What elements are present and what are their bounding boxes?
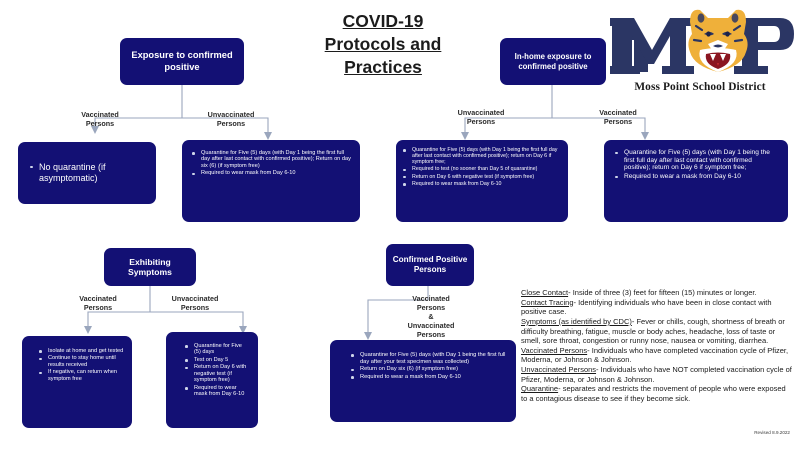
list-item: Test on Day 5	[194, 357, 250, 363]
list-item: Required to wear mask from Day 6-10	[412, 181, 560, 187]
list-item: Required to wear mask from Day 6-10	[194, 385, 250, 398]
list-item: Required to wear mask from Day 6-10	[201, 170, 352, 176]
definition-symptoms: Symptoms (as identified by CDC)- Fever o…	[521, 317, 793, 346]
list-item: Quarantine for Five (5) days	[194, 343, 250, 356]
definitions-glossary: Close Contact- Inside of three (3) feet …	[521, 288, 793, 404]
label-inhome-unvaccinated: Unvaccinated Persons	[446, 108, 516, 126]
definition-term: Contact Tracing	[521, 298, 574, 307]
definition-vaccinated-persons: Vaccinated Persons- Individuals who have…	[521, 346, 793, 365]
list-item: Quarantine for Five (5) days (with Day 1…	[360, 352, 508, 365]
definition-term: Close Contact	[521, 288, 568, 297]
label-line-1: Vaccinated	[599, 108, 637, 117]
list-item: Return on Day six (6) (if symptom free)	[360, 366, 508, 373]
node-inhome-exposure[interactable]: In-home exposure to confirmed positive	[500, 38, 606, 85]
node-exposure-label: Exposure to confirmed positive	[128, 50, 236, 73]
node-confirmed-label: Confirmed Positive Persons	[391, 255, 469, 275]
definition-unvaccinated-persons: Unvaccinated Persons- Individuals who ha…	[521, 365, 793, 384]
definition-text: - separates and restricts the movement o…	[521, 384, 786, 403]
label-line-2: Persons	[86, 119, 114, 128]
label-line-1: Vaccinated	[79, 294, 117, 303]
outcome-list: No quarantine (if asymptomatic)	[22, 162, 150, 184]
definition-close-contact: Close Contact- Inside of three (3) feet …	[521, 288, 793, 298]
definition-contact-tracing: Contact Tracing- Identifying individuals…	[521, 298, 793, 317]
label-line-2: Persons	[181, 303, 209, 312]
outcome-exhibiting-vaccinated[interactable]: Isolate at home and get tested Continue …	[22, 336, 132, 428]
outcome-exposure-vaccinated[interactable]: No quarantine (if asymptomatic)	[18, 142, 156, 204]
label-line-2: Persons	[604, 117, 632, 126]
definition-term: Unvaccinated Persons	[521, 365, 596, 374]
label-line-1: Vaccinated	[81, 110, 119, 119]
outcome-list: Isolate at home and get tested Continue …	[26, 348, 126, 382]
label-line-1: Vaccinated	[412, 294, 450, 303]
label-line-1: Unvaccinated	[458, 108, 505, 117]
label-line-2: Persons	[467, 117, 495, 126]
label-line-1: Unvaccinated	[208, 110, 255, 119]
outcome-list: Quarantine for Five (5) days (with Day 1…	[186, 150, 354, 177]
label-line-1: Unvaccinated	[172, 294, 219, 303]
list-item: Required to wear a mask from Day 6-10	[360, 374, 508, 381]
label-line-4: Unvaccinated	[408, 321, 455, 330]
definition-term: Quarantine	[521, 384, 558, 393]
definition-term: Vaccinated Persons	[521, 346, 587, 355]
list-item: Quarantine for Five (5) days (with Day 1…	[624, 149, 780, 172]
label-exposure-vaccinated: Vaccinated Persons	[68, 110, 132, 128]
revised-date: Revised 8.9.2022	[660, 430, 790, 435]
label-line-2: Persons	[84, 303, 112, 312]
list-item: Required to wear a mask from Day 6-10	[624, 173, 780, 181]
label-line-2: Persons	[417, 303, 445, 312]
outcome-exposure-unvaccinated[interactable]: Quarantine for Five (5) days (with Day 1…	[182, 140, 360, 222]
outcome-confirmed-all[interactable]: Quarantine for Five (5) days (with Day 1…	[330, 340, 516, 422]
outcome-list: Quarantine for Five (5) days (with Day 1…	[400, 147, 562, 187]
list-item: Continue to stay home until results rece…	[48, 355, 124, 368]
list-item: Return on Day 6 with negative test (if s…	[194, 364, 250, 383]
list-item: Quarantine for Five (5) days (with Day 1…	[201, 150, 352, 169]
list-item: No quarantine (if asymptomatic)	[39, 162, 148, 183]
outcome-inhome-vaccinated[interactable]: Quarantine for Five (5) days (with Day 1…	[604, 140, 788, 222]
definition-term: Symptoms (as identified by CDC)	[521, 317, 632, 326]
list-item: If negative, can return when symptom fre…	[48, 369, 124, 382]
outcome-list: Quarantine for Five (5) days (with Day 1…	[334, 352, 510, 380]
label-line-2: Persons	[217, 119, 245, 128]
flowchart-canvas: COVID-19 Protocols and Practices	[0, 0, 800, 450]
definition-quarantine: Quarantine- separates and restricts the …	[521, 384, 793, 403]
list-item: Return on Day 6 with negative test (if s…	[412, 174, 560, 180]
definition-text: - Inside of three (3) feet for fifteen (…	[568, 288, 756, 297]
label-exhibiting-vaccinated: Vaccinated Persons	[66, 294, 130, 312]
label-exposure-unvaccinated: Unvaccinated Persons	[196, 110, 266, 128]
outcome-inhome-unvaccinated[interactable]: Quarantine for Five (5) days (with Day 1…	[396, 140, 568, 222]
outcome-list: Quarantine for Five (5) days Test on Day…	[170, 343, 252, 398]
outcome-exhibiting-unvaccinated[interactable]: Quarantine for Five (5) days Test on Day…	[166, 332, 258, 428]
node-exposure-to-confirmed-positive[interactable]: Exposure to confirmed positive	[120, 38, 244, 85]
label-line-5: Persons	[417, 330, 445, 339]
label-line-3: &	[428, 312, 433, 321]
list-item: Quarantine for Five (5) days (with Day 1…	[412, 147, 560, 165]
node-exhibiting-symptoms[interactable]: Exhibiting Symptoms	[104, 248, 196, 286]
node-confirmed-positive-persons[interactable]: Confirmed Positive Persons	[386, 244, 474, 286]
label-exhibiting-unvaccinated: Unvaccinated Persons	[160, 294, 230, 312]
outcome-list: Quarantine for Five (5) days (with Day 1…	[608, 149, 782, 181]
node-inhome-label: In-home exposure to confirmed positive	[506, 52, 600, 71]
label-inhome-vaccinated: Vaccinated Persons	[586, 108, 650, 126]
list-item: Required to test (no sooner than Day 5 o…	[412, 166, 560, 172]
node-exhibiting-label: Exhibiting Symptoms	[110, 257, 190, 278]
list-item: Isolate at home and get tested	[48, 348, 124, 354]
label-confirmed-all-persons: Vaccinated Persons & Unvaccinated Person…	[396, 294, 466, 339]
